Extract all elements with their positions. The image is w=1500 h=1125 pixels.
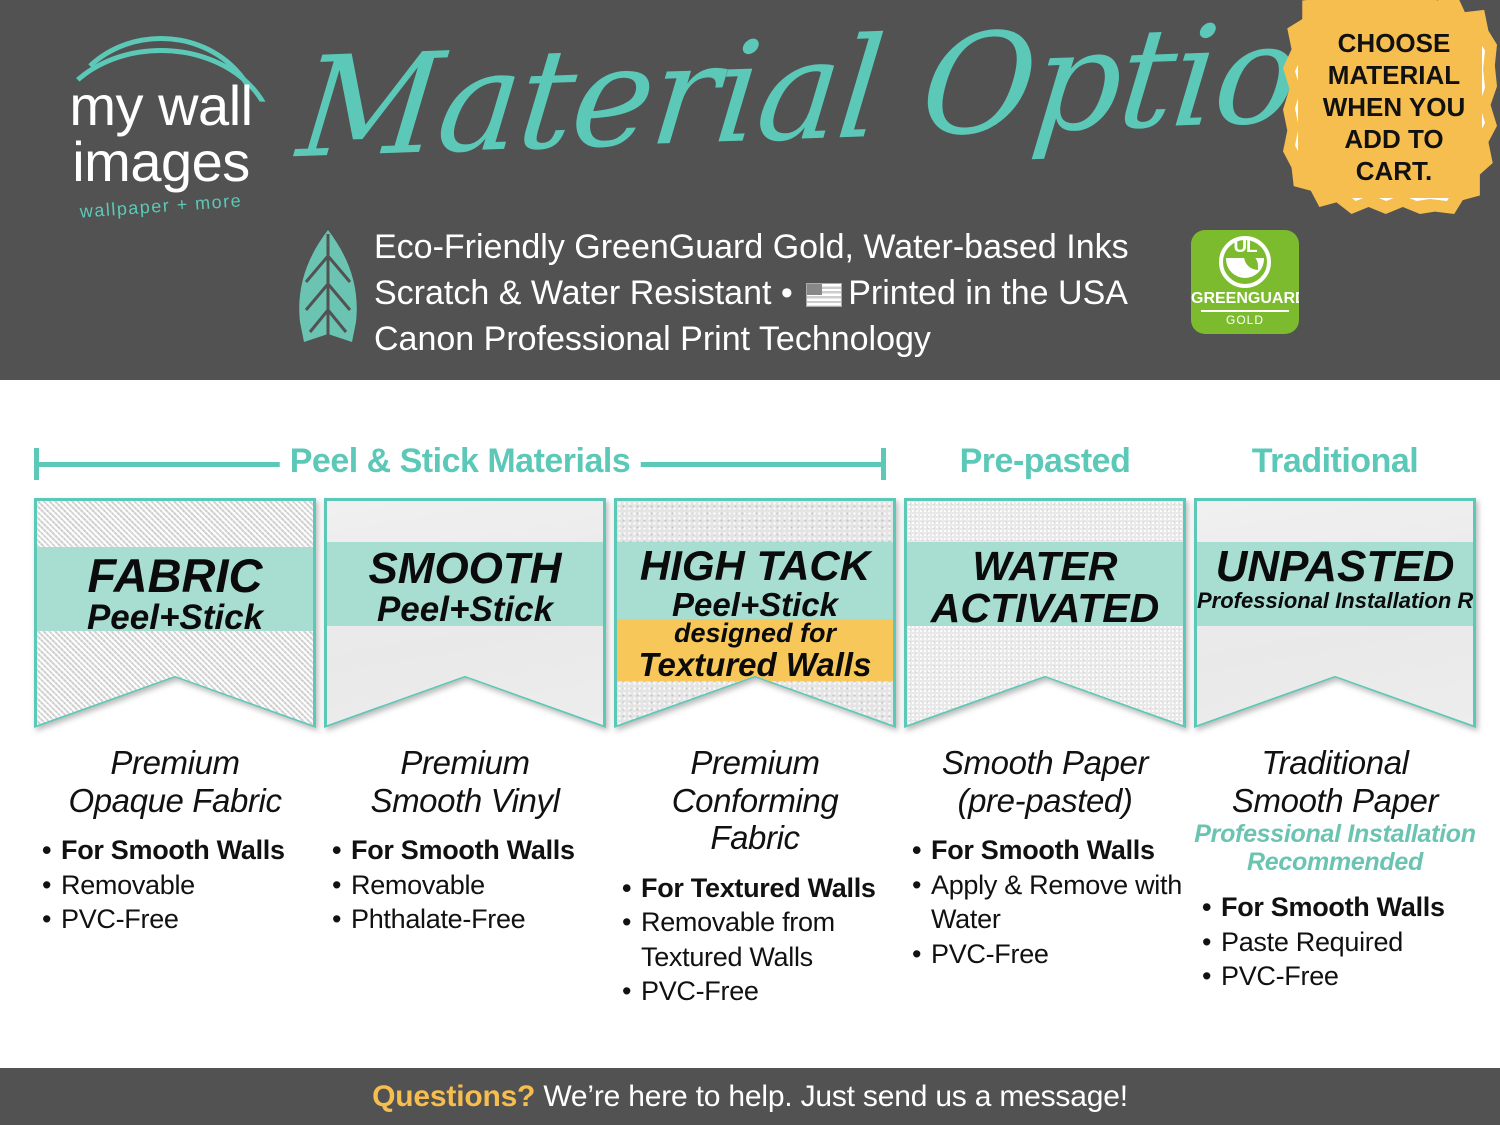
- desc-line-2: Conforming: [614, 782, 896, 820]
- desc-line-2: (pre-pasted): [904, 782, 1186, 820]
- highlight-line-1: designed for: [617, 620, 893, 648]
- choose-material-badge: CHOOSE MATERIAL WHEN YOU ADD TO CART.: [1283, 0, 1497, 214]
- greenguard-name: GREENGUARD: [1191, 290, 1299, 308]
- banner-swatch: WATER ACTIVATED: [907, 501, 1183, 725]
- feature-item: PVC-Free: [40, 902, 316, 937]
- material-features: For Textured Walls Removable from Textur…: [614, 871, 896, 1009]
- material-subtitle: ACTIVATED: [907, 588, 1183, 626]
- feature-item: For Smooth Walls: [40, 833, 316, 868]
- peel-stick-bracket: Peel & Stick Materials: [34, 438, 886, 484]
- material-description: Premium Smooth Vinyl: [324, 744, 606, 819]
- desc-line-1: Smooth Paper: [904, 744, 1186, 782]
- material-description: Premium Conforming Fabric: [614, 744, 896, 857]
- banner-swatch: SMOOTH Peel+Stick: [327, 501, 603, 725]
- material-description: Premium Opaque Fabric: [34, 744, 316, 819]
- feature-line-2-prefix: Scratch & Water Resistant •: [374, 274, 802, 312]
- material-name: WATER: [907, 546, 1183, 588]
- banner-label-band: SMOOTH Peel+Stick: [327, 542, 603, 626]
- bracket-cap-right: [881, 448, 886, 480]
- material-subtitle: Peel+Stick: [617, 588, 893, 619]
- material-banner: FABRIC Peel+Stick: [34, 498, 316, 728]
- feature-item: PVC-Free: [620, 974, 896, 1009]
- material-subtitle: Peel+Stick: [37, 600, 313, 631]
- desc-line-1: Premium: [34, 744, 316, 782]
- feature-item: PVC-Free: [910, 937, 1186, 972]
- feature-item: Removable from Textured Walls: [620, 905, 896, 974]
- banner-swatch: HIGH TACK Peel+Stick designed for Textur…: [617, 501, 893, 725]
- material-card-smooth[interactable]: SMOOTH Peel+Stick Premium Smooth Vinyl F…: [324, 498, 606, 937]
- material-features: For Smooth Walls Removable Phthalate-Fre…: [324, 833, 606, 937]
- leaf-icon: [294, 230, 362, 342]
- page-title: Material Options: [290, 0, 1289, 204]
- material-subtitle: Peel+Stick: [327, 592, 603, 626]
- feature-line-3: Canon Professional Print Technology: [374, 316, 1174, 362]
- feature-line-2-suffix: Printed in the USA: [848, 274, 1128, 312]
- feature-item: Phthalate-Free: [330, 902, 606, 937]
- material-banner: HIGH TACK Peel+Stick designed for Textur…: [614, 498, 896, 728]
- header-banner: my wall images wallpaper + more Material…: [0, 0, 1500, 380]
- desc-line-1: Traditional: [1194, 744, 1476, 782]
- material-description: Traditional Smooth Paper: [1194, 744, 1476, 819]
- bracket-cap-left: [34, 448, 39, 480]
- material-banner: UNPASTED Professional Installation Recom…: [1194, 498, 1476, 728]
- banner-swatch: UNPASTED Professional Installation Recom…: [1197, 501, 1473, 725]
- greenguard-divider: [1201, 310, 1289, 312]
- material-card-unpasted[interactable]: UNPASTED Professional Installation Recom…: [1194, 498, 1476, 994]
- desc-line-2: Smooth Vinyl: [324, 782, 606, 820]
- banner-label-band: UNPASTED Professional Installation Recom…: [1197, 542, 1473, 626]
- banner-swatch: FABRIC Peel+Stick: [37, 501, 313, 725]
- feature-item: PVC-Free: [1200, 959, 1476, 994]
- material-card-water-activated[interactable]: WATER ACTIVATED Smooth Paper (pre-pasted…: [904, 498, 1186, 971]
- footer-message: Questions? We’re here to help. Just send…: [372, 1080, 1128, 1114]
- banner-highlight-band: designed for Textured Walls: [617, 619, 893, 681]
- material-features: For Smooth Walls Removable PVC-Free: [34, 833, 316, 937]
- material-name: HIGH TACK: [617, 545, 893, 588]
- material-card-high-tack[interactable]: HIGH TACK Peel+Stick designed for Textur…: [614, 498, 896, 1009]
- group-label-traditional: Traditional: [1190, 438, 1480, 484]
- material-install-note: Professional Installation Recommended: [1194, 821, 1476, 876]
- banner-label-band: HIGH TACK Peel+Stick: [617, 542, 893, 619]
- material-subtitle: Professional Installation Recom.: [1197, 590, 1473, 612]
- material-name: SMOOTH: [327, 547, 603, 592]
- material-banner: SMOOTH Peel+Stick: [324, 498, 606, 728]
- material-description: Smooth Paper (pre-pasted): [904, 744, 1186, 819]
- material-banner: WATER ACTIVATED: [904, 498, 1186, 728]
- group-label-peel-stick: Peel & Stick Materials: [280, 438, 641, 484]
- feature-line-1: Eco-Friendly GreenGuard Gold, Water-base…: [374, 224, 1174, 270]
- feature-item: For Smooth Walls: [330, 833, 606, 868]
- feature-item: For Textured Walls: [620, 871, 896, 906]
- material-columns: FABRIC Peel+Stick Premium Opaque Fabric …: [0, 498, 1500, 1058]
- usa-flag-icon: [806, 283, 842, 307]
- group-headings: Peel & Stick Materials Pre-pasted Tradit…: [0, 438, 1500, 484]
- banner-label-band: WATER ACTIVATED: [907, 542, 1183, 626]
- material-features: For Smooth Walls Paste Required PVC-Free: [1194, 890, 1476, 994]
- desc-line-1: Premium: [614, 744, 896, 782]
- footer-highlight: Questions?: [372, 1080, 535, 1113]
- greenguard-level: GOLD: [1191, 313, 1299, 327]
- feature-list: Eco-Friendly GreenGuard Gold, Water-base…: [374, 224, 1174, 362]
- material-name: UNPASTED: [1197, 545, 1473, 590]
- banner-label-band: FABRIC Peel+Stick: [37, 547, 313, 631]
- feature-item: For Smooth Walls: [1200, 890, 1476, 925]
- greenguard-gold-badge: UL GREENGUARD GOLD: [1191, 230, 1299, 334]
- feature-item: For Smooth Walls: [910, 833, 1186, 868]
- badge-text: CHOOSE MATERIAL WHEN YOU ADD TO CART.: [1305, 28, 1483, 188]
- feature-item: Paste Required: [1200, 925, 1476, 960]
- feature-line-2: Scratch & Water Resistant • Printed in t…: [374, 270, 1174, 316]
- desc-line-2: Opaque Fabric: [34, 782, 316, 820]
- footer-rest: We’re here to help. Just send us a messa…: [535, 1080, 1128, 1113]
- brand-logo: my wall images wallpaper + more: [36, 30, 286, 230]
- material-name: FABRIC: [37, 552, 313, 600]
- feature-item: Removable: [330, 868, 606, 903]
- feature-item: Removable: [40, 868, 316, 903]
- group-label-pre-pasted: Pre-pasted: [900, 438, 1190, 484]
- logo-line-2: images: [36, 134, 286, 190]
- feature-item: Apply & Remove with Water: [910, 868, 1186, 937]
- desc-line-2: Smooth Paper: [1194, 782, 1476, 820]
- logo-line-1: my wall: [36, 78, 286, 134]
- logo-tagline: wallpaper + more: [36, 187, 287, 225]
- material-card-fabric[interactable]: FABRIC Peel+Stick Premium Opaque Fabric …: [34, 498, 316, 937]
- footer-bar: Questions? We’re here to help. Just send…: [0, 1068, 1500, 1125]
- desc-line-3: Fabric: [614, 819, 896, 857]
- desc-line-1: Premium: [324, 744, 606, 782]
- material-features: For Smooth Walls Apply & Remove with Wat…: [904, 833, 1186, 971]
